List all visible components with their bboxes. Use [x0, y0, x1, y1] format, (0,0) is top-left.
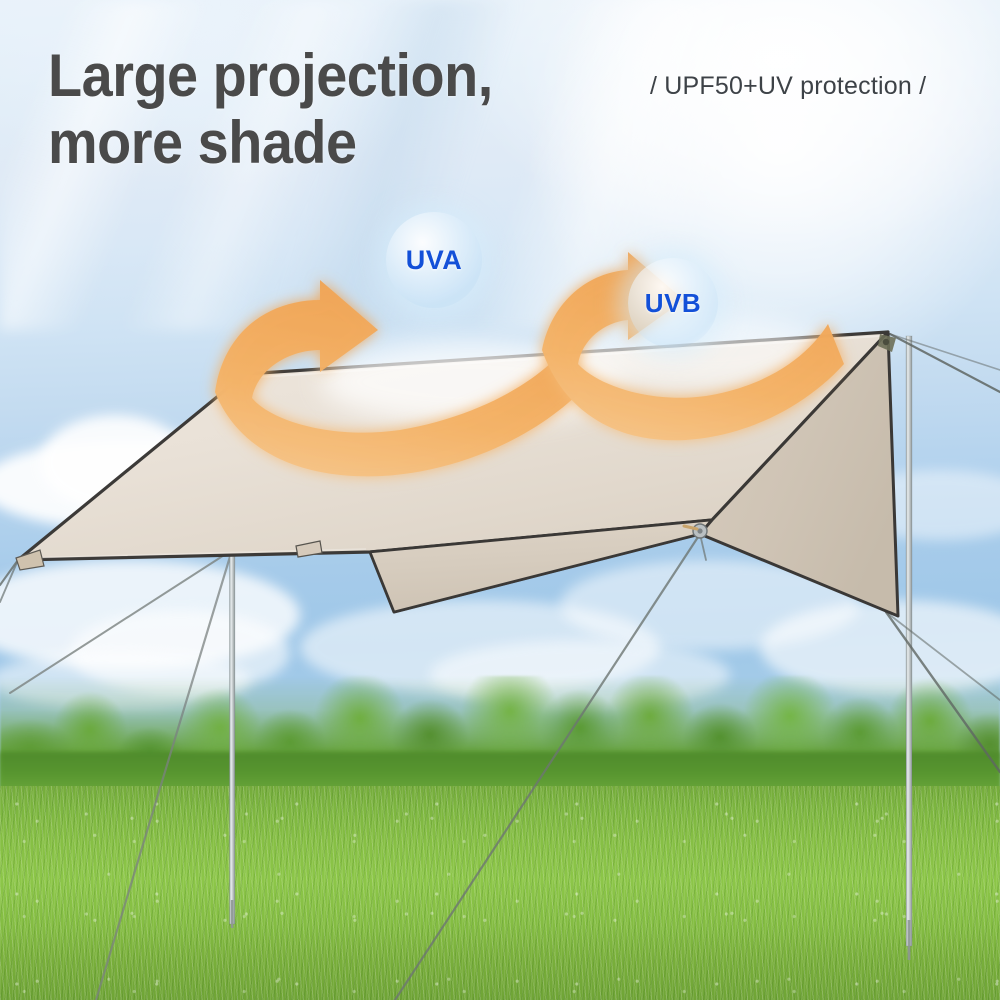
product-banner: UVA UVB Large projection, more shade / U… — [0, 0, 1000, 1000]
uva-badge-label: UVA — [406, 245, 463, 276]
uvb-badge: UVB — [628, 258, 718, 348]
tagline: / UPF50+UV protection / — [650, 72, 926, 101]
page-title: Large projection, more shade — [48, 42, 643, 176]
uvb-badge-label: UVB — [645, 288, 701, 319]
uva-badge: UVA — [386, 212, 482, 308]
